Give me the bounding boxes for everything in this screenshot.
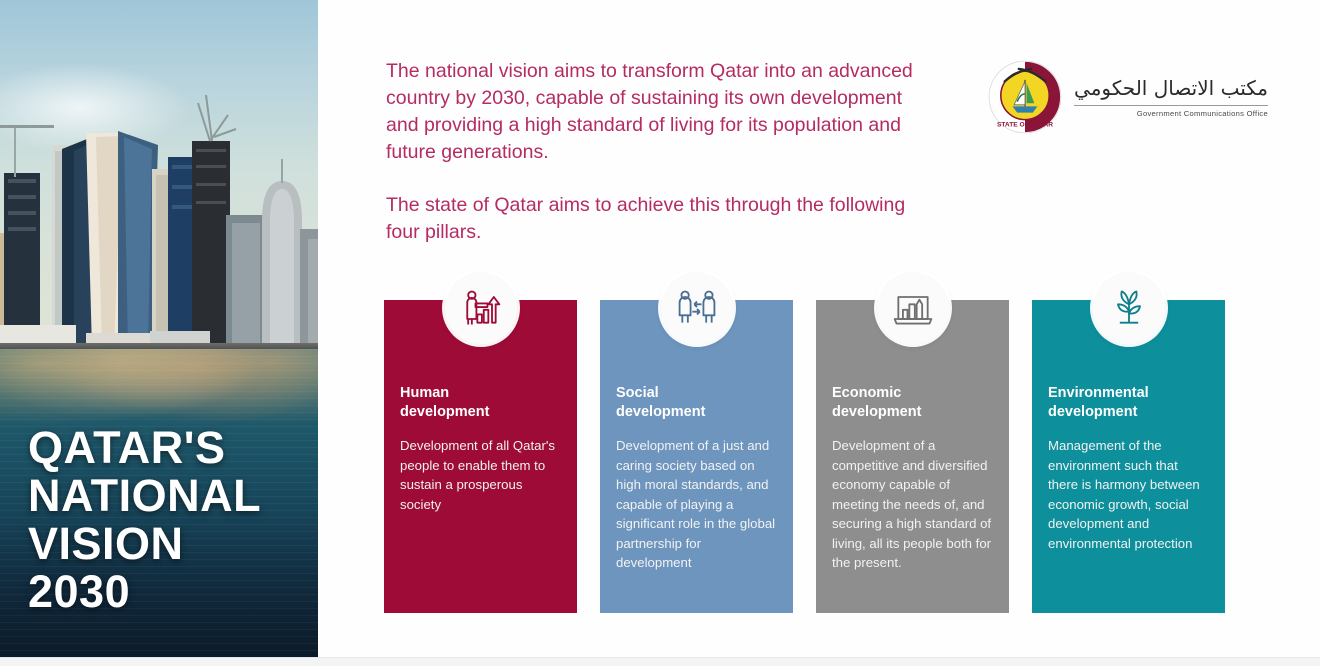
- pillar-title: Environmental development: [1048, 384, 1209, 422]
- growing-plant-sapling-icon: [1107, 286, 1151, 330]
- pillar-card-body: Human development Development of all Qat…: [384, 300, 577, 613]
- doha-skyline-illustration: [0, 33, 318, 349]
- pillar-title: Human development: [400, 384, 561, 422]
- two-people-exchange-icon: [675, 286, 719, 330]
- logo-arabic-text: مكتب الاتصال الحكومي: [1074, 76, 1268, 101]
- svg-text:STATE OF QATAR: STATE OF QATAR: [997, 122, 1053, 129]
- intro-paragraph-1: The national vision aims to transform Qa…: [386, 58, 931, 166]
- state-of-qatar-emblem-icon: STATE OF QATAR: [986, 58, 1064, 136]
- pillar-description: Development of a competitive and diversi…: [832, 436, 993, 573]
- pillar-card-human-development[interactable]: Human development Development of all Qat…: [384, 300, 577, 613]
- hero-title-line-3: VISION: [28, 520, 261, 568]
- person-bar-chart-growth-icon: [459, 286, 503, 330]
- pillar-description: Development of a just and caring society…: [616, 436, 777, 573]
- pillar-card-economic-development[interactable]: Economic development Development of a co…: [816, 300, 1009, 613]
- presentation-slide: QATAR'S NATIONAL VISION 2030 The nationa…: [0, 0, 1320, 666]
- page-title: QATAR'S NATIONAL VISION 2030: [28, 424, 261, 616]
- pillar-icon-badge: [445, 272, 517, 344]
- pillar-icon-badge: [661, 272, 733, 344]
- pillar-card-body: Environmental development Management of …: [1032, 300, 1225, 613]
- hero-title-line-1: QATAR'S: [28, 424, 261, 472]
- pillar-title: Social development: [616, 384, 777, 422]
- hero-title-line-4: 2030: [28, 568, 261, 616]
- intro-paragraph-2: The state of Qatar aims to achieve this …: [386, 192, 931, 246]
- pillar-card-body: Economic development Development of a co…: [816, 300, 1009, 613]
- pillar-card-environmental-development[interactable]: Environmental development Management of …: [1032, 300, 1225, 613]
- four-pillars-row: Human development Development of all Qat…: [384, 300, 1225, 613]
- intro-text-block: The national vision aims to transform Qa…: [386, 58, 931, 246]
- government-communications-office-logo: STATE OF QATAR مكتب الاتصال الحكومي Gove…: [986, 58, 1268, 136]
- logo-english-text: Government Communications Office: [1137, 109, 1268, 118]
- pillar-card-social-development[interactable]: Social development Development of a just…: [600, 300, 793, 613]
- laptop-city-buildings-icon: [891, 286, 935, 330]
- pillar-description: Development of all Qatar's people to ena…: [400, 436, 561, 514]
- logo-divider: [1074, 105, 1268, 106]
- pillar-icon-badge: [877, 272, 949, 344]
- slide-content-area: The national vision aims to transform Qa…: [320, 0, 1320, 666]
- pillar-icon-badge: [1093, 272, 1165, 344]
- logo-text-block: مكتب الاتصال الحكومي Government Communic…: [1074, 76, 1268, 118]
- hero-image-panel: QATAR'S NATIONAL VISION 2030: [0, 0, 320, 658]
- slide-bottom-frame: [0, 657, 1320, 666]
- pillar-description: Management of the environment such that …: [1048, 436, 1209, 553]
- pillar-card-body: Social development Development of a just…: [600, 300, 793, 613]
- hero-title-line-2: NATIONAL: [28, 472, 261, 520]
- pillar-title: Economic development: [832, 384, 993, 422]
